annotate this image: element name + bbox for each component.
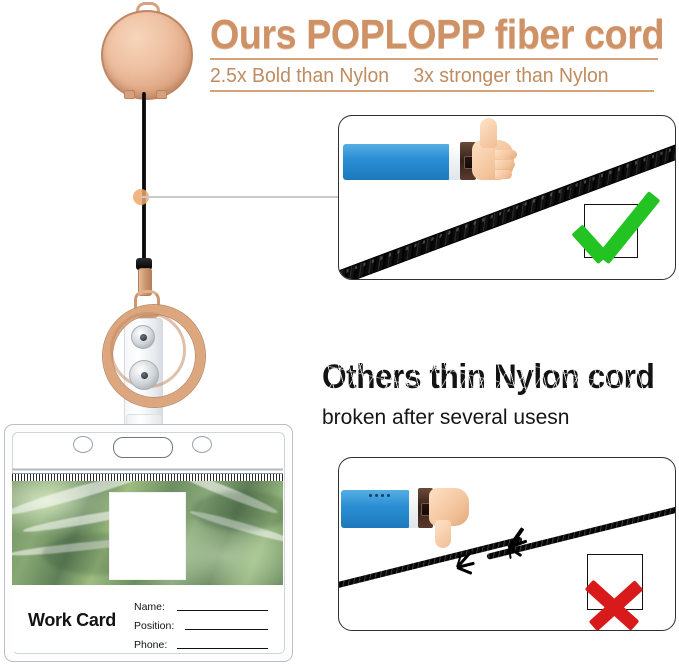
clip-rivet-bottom-core — [141, 372, 148, 379]
subtitle-left: 2.5x Bold than Nylon — [210, 65, 389, 87]
subtitle-underline — [210, 90, 654, 92]
finger-2 — [495, 160, 515, 169]
work-card-title: Work Card — [28, 610, 116, 631]
photo-placeholder — [109, 492, 186, 580]
callout-line — [140, 196, 352, 198]
red-cross-icon — [579, 546, 651, 618]
punch-hole-right — [192, 436, 212, 453]
subtitle-right: 3x stronger than Nylon — [413, 65, 608, 87]
infographic-canvas: Ours POPLOPP fiber cord 2.5x Bold than N… — [0, 0, 679, 664]
field-label-name: Name: — [134, 601, 165, 613]
green-check-icon — [571, 182, 661, 264]
panel-nylon-cord — [338, 457, 676, 631]
headline-block: Ours POPLOPP fiber cord 2.5x Bold than N… — [210, 12, 672, 92]
clip-rivet-top-core — [140, 334, 147, 341]
sleeve-blue — [343, 144, 453, 180]
others-subtitle: broken after several usesn — [322, 404, 672, 432]
field-label-position: Position: — [134, 620, 174, 632]
sleeve-buttons — [369, 494, 390, 497]
finger-3 — [495, 170, 512, 179]
fiber-cord-strand — [142, 92, 146, 262]
page-title: Ours POPLOPP fiber cord — [210, 12, 635, 56]
thumb-down — [435, 520, 451, 548]
field-line-name — [177, 610, 268, 611]
others-title-text: Others thin Nylon cord — [322, 358, 654, 396]
holder-seam — [12, 468, 283, 471]
reel-nub-left — [124, 90, 135, 99]
headline-subtitle: 2.5x Bold than Nylon 3x stronger than Ny… — [210, 63, 658, 89]
punch-hole-left — [73, 436, 93, 453]
others-block: Others thin Nylon cord broken after seve… — [322, 358, 672, 432]
clip-rivet-bottom — [129, 360, 159, 390]
thumb-up — [480, 118, 497, 148]
nylon-cord-left-segment — [338, 537, 522, 592]
field-line-phone — [177, 648, 268, 649]
field-line-position — [185, 629, 268, 630]
others-title: Others thin Nylon cord — [322, 358, 648, 396]
field-label-phone: Phone: — [134, 639, 167, 651]
center-slot — [113, 437, 173, 458]
badge-reel — [101, 10, 193, 100]
panel-fiber-cord — [338, 115, 676, 280]
reel-nub-right — [156, 90, 167, 99]
clip-rivet-top — [131, 325, 155, 349]
finger-1 — [495, 150, 517, 159]
title-underline — [210, 58, 658, 60]
